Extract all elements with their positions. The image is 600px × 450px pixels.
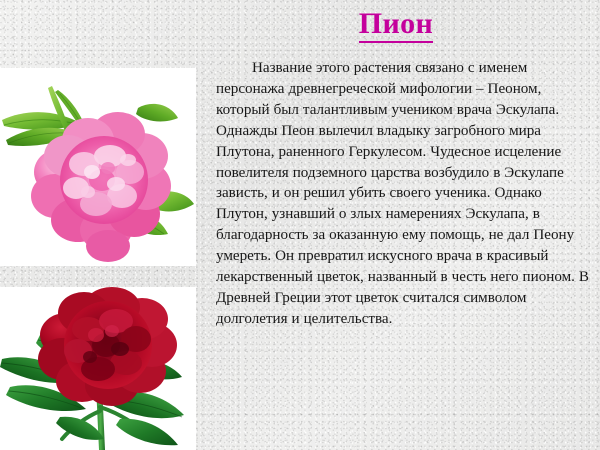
- body-text-block: Название этого растения связано с именем…: [216, 58, 590, 330]
- pink-peony-illustration: [0, 68, 196, 266]
- page-title: Пион: [359, 8, 434, 43]
- red-peony-illustration: [0, 287, 196, 450]
- slide-title: Пион: [196, 8, 596, 43]
- pink-petal-bottom: [86, 230, 130, 262]
- pink-peony-photo: [0, 68, 196, 266]
- red-peony-photo: [0, 287, 196, 450]
- body-paragraph: Название этого растения связано с именем…: [216, 58, 590, 330]
- pink-petals-center: [60, 136, 148, 224]
- slide-root: Пион Название этого растения связано с и…: [0, 0, 600, 450]
- red-petals-center: [64, 301, 152, 389]
